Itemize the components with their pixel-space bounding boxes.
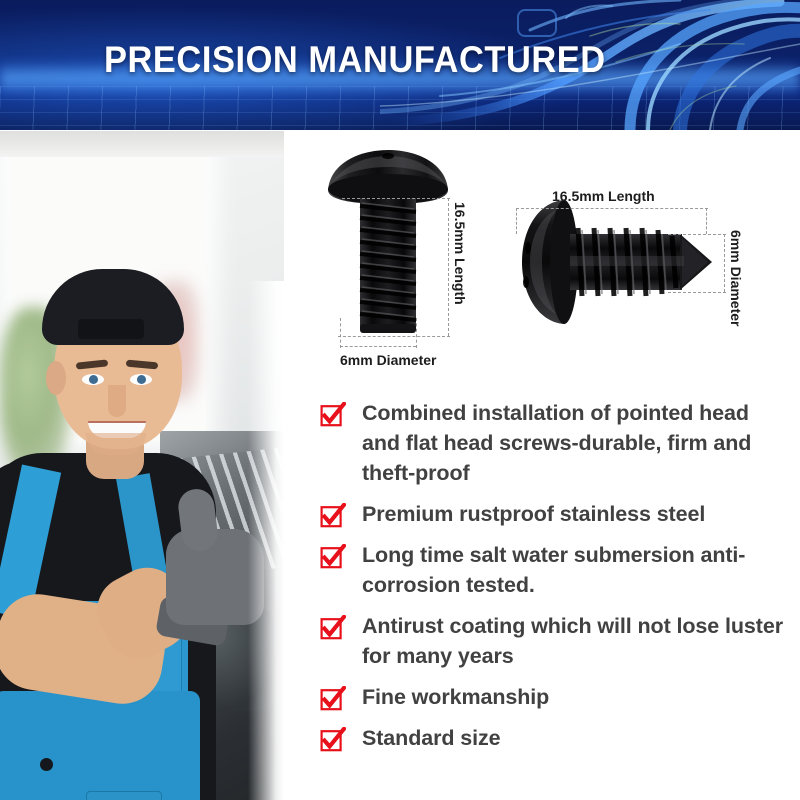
- dim-guide-bottom-left-screw: [338, 336, 450, 337]
- checkbox-checked-icon: [320, 686, 346, 712]
- left-screw-diameter-label: 6mm Diameter: [340, 352, 437, 368]
- photo-edge-fade: [248, 281, 284, 800]
- feature-text: Antirust coating which will not lose lus…: [362, 611, 790, 671]
- feature-text: Standard size: [362, 723, 501, 753]
- banner-title: PRECISION MANUFACTURED: [104, 38, 718, 82]
- overall-side-pocket: [86, 791, 162, 800]
- overall-button-upper: [40, 758, 53, 771]
- person-cap-strap: [78, 319, 144, 339]
- dim-guide-bottom-right-screw: [668, 292, 726, 293]
- feature-item: Standard size: [320, 723, 790, 753]
- header-banner: PRECISION MANUFACTURED: [0, 0, 800, 130]
- dim-line-length-left-screw: [448, 198, 449, 336]
- dim-extension-right-screw-left: [516, 208, 517, 234]
- feature-item: Antirust coating which will not lose lus…: [320, 611, 790, 671]
- feature-text: Fine workmanship: [362, 682, 549, 712]
- checkbox-checked-icon: [320, 727, 346, 753]
- checkbox-checked-icon: [320, 615, 346, 641]
- dim-line-length-right-screw: [516, 208, 708, 209]
- dim-line-diameter-left-screw: [340, 346, 416, 347]
- product-infographic: PRECISION MANUFACTURED: [0, 0, 800, 800]
- dim-line-diameter-right-screw: [724, 234, 725, 292]
- feature-item: Long time salt water submersion anti-cor…: [320, 540, 790, 600]
- dim-extension-right: [416, 318, 417, 348]
- dim-guide-top-right-screw: [668, 234, 726, 235]
- feature-item: Premium rustproof stainless steel: [320, 499, 790, 529]
- left-screw-length-label: 16.5mm Length: [452, 202, 468, 305]
- feature-text: Long time salt water submersion anti-cor…: [362, 540, 790, 600]
- flat-head-screw-illustration: [322, 142, 522, 372]
- checkbox-checked-icon: [320, 402, 346, 428]
- feature-text: Premium rustproof stainless steel: [362, 499, 705, 529]
- right-screw-diameter-label: 6mm Diameter: [728, 230, 744, 327]
- feature-item: Combined installation of pointed head an…: [320, 398, 790, 488]
- mechanic-photo: [0, 131, 284, 800]
- person-ear: [46, 361, 66, 395]
- pointed-head-screw-illustration: [512, 190, 732, 350]
- checkbox-checked-icon: [320, 544, 346, 570]
- dim-guide-top-left-screw: [342, 198, 450, 199]
- feature-item: Fine workmanship: [320, 682, 790, 712]
- feature-text: Combined installation of pointed head an…: [362, 398, 790, 488]
- overall-body: [0, 691, 200, 800]
- person-pupil-right: [137, 375, 146, 384]
- person-nose: [108, 385, 126, 417]
- dim-extension-left: [340, 318, 341, 348]
- dim-extension-right-screw-right: [706, 208, 707, 234]
- person-pupil-left: [89, 375, 98, 384]
- screw-dimension-diagram: 16.5mm Length 6mm Diameter: [300, 140, 800, 390]
- photo-window-frame-top: [0, 131, 284, 157]
- checkbox-checked-icon: [320, 503, 346, 529]
- right-screw-length-label: 16.5mm Length: [552, 188, 655, 204]
- feature-list: Combined installation of pointed head an…: [320, 398, 790, 764]
